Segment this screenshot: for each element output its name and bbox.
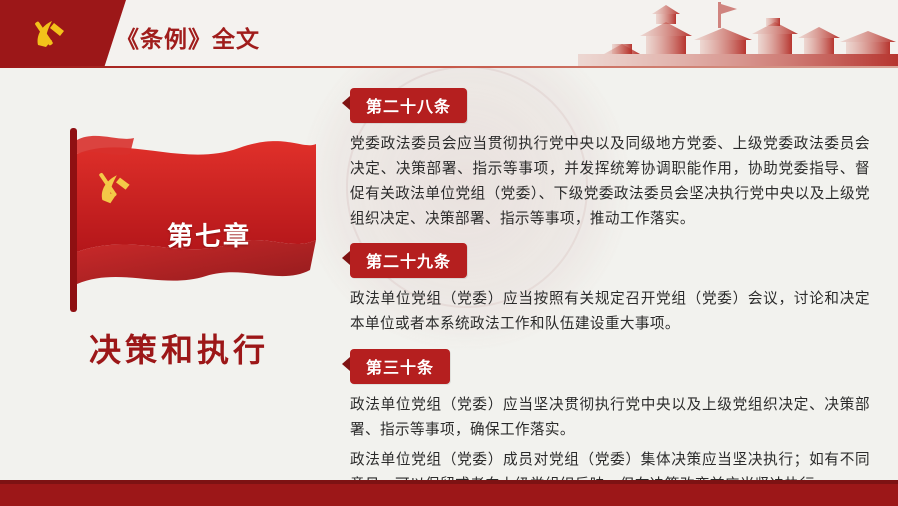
slide-root: 《条例》全文	[0, 0, 898, 506]
article-paragraph-29-1: 政法单位党组（党委）应当按照有关规定召开党组（党委）会议，讨论和决定本单位或者本…	[350, 286, 870, 336]
hammer-sickle-icon	[30, 14, 74, 54]
chapter-title: 决策和执行	[34, 325, 324, 371]
header-divider	[0, 66, 898, 68]
article-paragraph-28-1: 党委政法委员会应当贯彻执行党中央以及同级地方党委、上级党委政法委员会决定、决策部…	[350, 131, 870, 231]
article-block-30: 第三十条 政法单位党组（党委）应当坚决贯彻执行党中央以及上级党组织决定、决策部署…	[350, 349, 870, 497]
footer-bar	[0, 484, 898, 506]
page-title-text: 《条例》全文	[116, 27, 260, 53]
article-badge-29: 第二十九条	[350, 243, 467, 278]
chapter-flag: 第七章	[34, 120, 324, 320]
chapter-label: 第七章	[134, 216, 284, 253]
article-badge-30: 第三十条	[350, 349, 450, 384]
article-paragraph-30-1: 政法单位党组（党委）应当坚决贯彻执行党中央以及上级党组织决定、决策部署、指示等事…	[350, 392, 870, 442]
article-badge-28: 第二十八条	[350, 88, 467, 123]
article-block-29: 第二十九条 政法单位党组（党委）应当按照有关规定召开党组（党委）会议，讨论和决定…	[350, 243, 870, 336]
header-bar: 《条例》全文	[0, 0, 898, 68]
page-title: 《条例》全文	[116, 20, 260, 54]
article-block-28: 第二十八条 党委政法委员会应当贯彻执行党中央以及同级地方党委、上级党委政法委员会…	[350, 88, 870, 231]
tiananmen-skyline-icon	[568, 0, 898, 68]
articles-container: 第二十八条 党委政法委员会应当贯彻执行党中央以及同级地方党委、上级党委政法委员会…	[350, 88, 870, 506]
